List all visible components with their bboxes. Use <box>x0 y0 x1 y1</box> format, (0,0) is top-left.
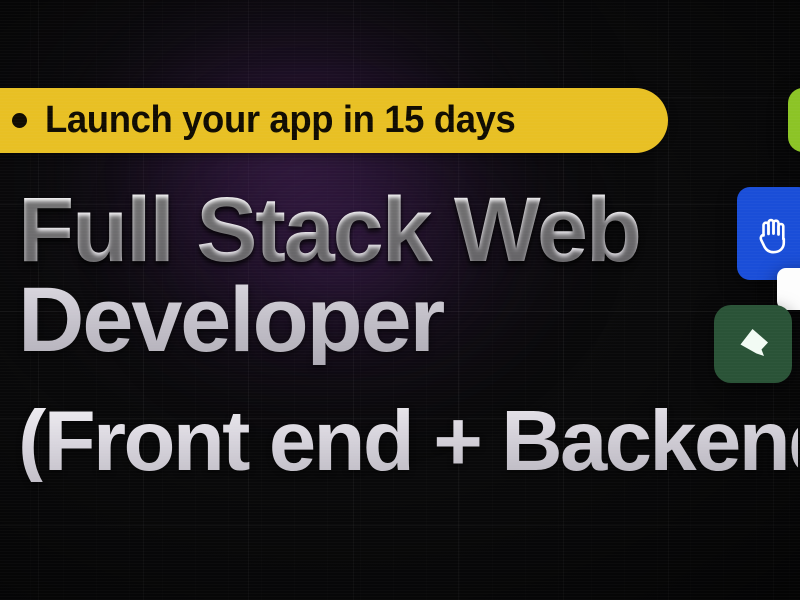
headline-block: Full Stack Web Developer (Front end + Ba… <box>18 186 798 482</box>
diamond-gem-icon <box>731 322 775 366</box>
blue-hand-tile[interactable] <box>737 187 800 280</box>
dark-green-gem-tile[interactable] <box>714 305 792 383</box>
bullet-dot-icon <box>12 113 27 128</box>
lime-green-tile[interactable] <box>788 88 800 152</box>
promo-badge-label: Launch your app in 15 days <box>45 101 515 141</box>
promo-badge[interactable]: Launch your app in 15 days <box>0 88 668 153</box>
headline-line-2: Developer <box>18 276 798 364</box>
white-tile[interactable] <box>777 268 800 310</box>
hand-icon <box>750 210 798 258</box>
headline-line-1: Full Stack Web <box>18 186 798 274</box>
headline-line-3: (Front end + Backend) <box>18 401 798 483</box>
promo-thumbnail-canvas: Launch your app in 15 days Full Stack We… <box>0 0 800 600</box>
